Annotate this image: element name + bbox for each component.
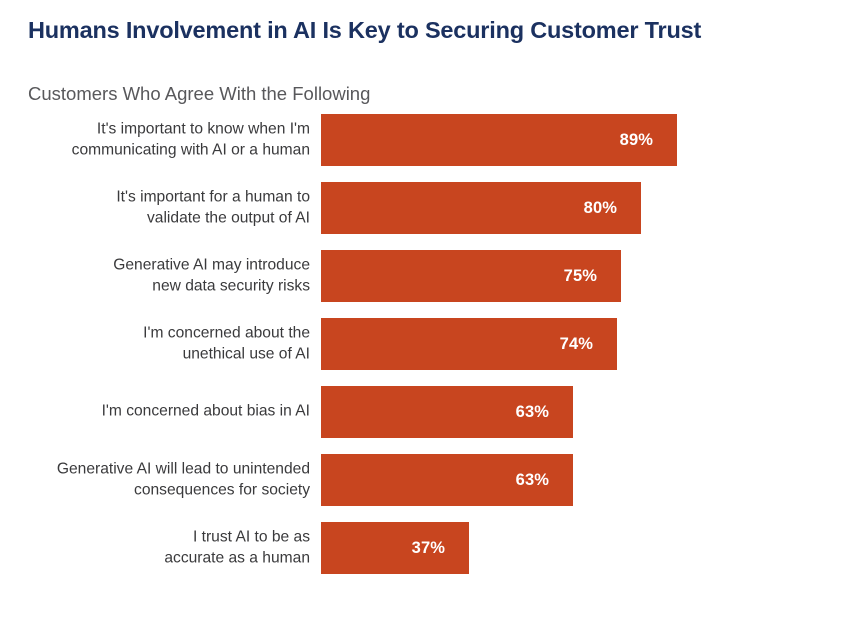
bar-track: 75% bbox=[321, 250, 850, 302]
bar-track: 74% bbox=[321, 318, 850, 370]
bar-row: I trust AI to be as accurate as a human3… bbox=[0, 522, 850, 574]
bar-category-label: It's important to know when I'm communic… bbox=[0, 119, 310, 160]
bar[interactable]: 80% bbox=[321, 182, 641, 234]
bar-row: It's important to know when I'm communic… bbox=[0, 114, 850, 166]
bar[interactable]: 63% bbox=[321, 386, 573, 438]
bar-value-label: 37% bbox=[412, 540, 445, 557]
bar-track: 63% bbox=[321, 454, 850, 506]
bar-value-label: 75% bbox=[564, 268, 597, 285]
bar-category-label: I trust AI to be as accurate as a human bbox=[0, 527, 310, 568]
bar-track: 80% bbox=[321, 182, 850, 234]
bar[interactable]: 63% bbox=[321, 454, 573, 506]
bar[interactable]: 89% bbox=[321, 114, 677, 166]
bar-row: Generative AI may introduce new data sec… bbox=[0, 250, 850, 302]
bar-row: I'm concerned about bias in AI63% bbox=[0, 386, 850, 438]
bar[interactable]: 75% bbox=[321, 250, 621, 302]
bar-row: Generative AI will lead to unintended co… bbox=[0, 454, 850, 506]
bar-value-label: 80% bbox=[584, 200, 617, 217]
bar-category-label: I'm concerned about bias in AI bbox=[0, 402, 310, 423]
bar-row: It's important for a human to validate t… bbox=[0, 182, 850, 234]
bar-track: 89% bbox=[321, 114, 850, 166]
bar-category-label: Generative AI may introduce new data sec… bbox=[0, 255, 310, 296]
bar-chart-plot-area: It's important to know when I'm communic… bbox=[0, 114, 850, 584]
bar-value-label: 74% bbox=[560, 336, 593, 353]
bar-row: I'm concerned about the unethical use of… bbox=[0, 318, 850, 370]
bar-category-label: It's important for a human to validate t… bbox=[0, 187, 310, 228]
bar-category-label: Generative AI will lead to unintended co… bbox=[0, 459, 310, 500]
bar[interactable]: 74% bbox=[321, 318, 617, 370]
bar-category-label: I'm concerned about the unethical use of… bbox=[0, 323, 310, 364]
chart-title: Humans Involvement in AI Is Key to Secur… bbox=[28, 16, 828, 44]
chart-subtitle: Customers Who Agree With the Following bbox=[28, 83, 728, 105]
bar-value-label: 63% bbox=[516, 472, 549, 489]
chart-figure: Humans Involvement in AI Is Key to Secur… bbox=[0, 0, 850, 620]
bar-value-label: 63% bbox=[516, 404, 549, 421]
bar-track: 37% bbox=[321, 522, 850, 574]
bar-track: 63% bbox=[321, 386, 850, 438]
bar[interactable]: 37% bbox=[321, 522, 469, 574]
bar-value-label: 89% bbox=[620, 132, 653, 149]
